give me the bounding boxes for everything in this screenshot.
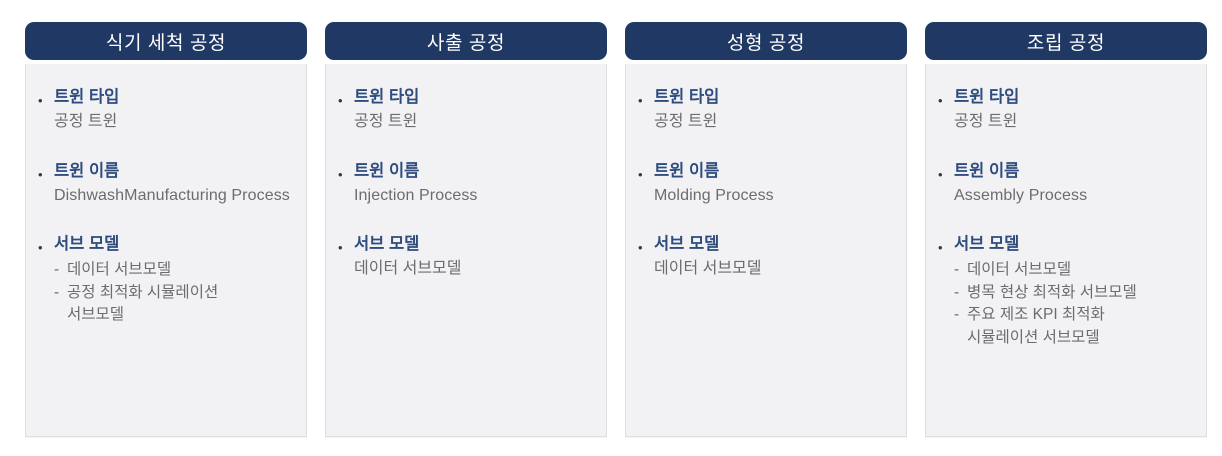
field-label-twin-type: 트윈 타입 [954,86,1196,110]
field-value-twin-type: 공정 트윈 [354,111,596,134]
bullet-dot-icon: • [938,233,954,254]
bullet-dot-icon: • [338,233,354,254]
field-value-sub-model: 데이터 서브모델 [654,258,896,281]
field-label-sub-model: 서브 모델 [954,233,1196,257]
bullet-dot-icon: • [938,86,954,107]
field-content: 트윈 타입 공정 트윈 [654,86,896,134]
process-card-molding[interactable]: 성형 공정 • 트윈 타입 공정 트윈 • 트윈 이름 Molding Proc… [625,22,907,437]
field-label-twin-type: 트윈 타입 [54,86,296,110]
field-twin-name: • 트윈 이름 Injection Process [338,160,596,208]
field-content: 트윈 타입 공정 트윈 [354,86,596,134]
field-value-twin-name: DishwashManufacturing Process [54,185,296,208]
dash-icon: - [54,282,59,304]
field-label-sub-model: 서브 모델 [54,233,296,257]
field-content: 서브 모델 데이터 서브모델 [354,233,596,281]
field-content: 트윈 타입 공정 트윈 [54,86,296,134]
sub-model-item-line1: 병목 현상 최적화 서브모델 [967,284,1137,301]
sub-model-item: - 데이터 서브모델 [54,259,296,281]
sub-model-item-line1: 주요 제조 KPI 최적화 [967,306,1105,323]
field-label-sub-model: 서브 모델 [654,233,896,257]
field-value-sub-model: 데이터 서브모델 [354,258,596,281]
bullet-dot-icon: • [38,160,54,181]
card-body-injection: • 트윈 타입 공정 트윈 • 트윈 이름 Injection Process … [325,64,607,437]
field-twin-type: • 트윈 타입 공정 트윈 [938,86,1196,134]
field-label-twin-name: 트윈 이름 [354,160,596,184]
process-card-injection[interactable]: 사출 공정 • 트윈 타입 공정 트윈 • 트윈 이름 Injection Pr… [325,22,607,437]
field-content: 트윈 이름 Assembly Process [954,160,1196,208]
sub-model-item-line2: 시뮬레이션 서브모델 [967,327,1196,349]
field-content: 서브 모델 - 데이터 서브모델 - 병목 현상 최적화 서브모델 - 주요 제 [954,233,1196,349]
field-content: 트윈 이름 Molding Process [654,160,896,208]
field-content: 서브 모델 데이터 서브모델 [654,233,896,281]
bullet-dot-icon: • [638,86,654,107]
field-twin-type: • 트윈 타입 공정 트윈 [338,86,596,134]
bullet-dot-icon: • [938,160,954,181]
field-label-twin-name: 트윈 이름 [54,160,296,184]
field-label-twin-type: 트윈 타입 [354,86,596,110]
field-sub-model: • 서브 모델 - 데이터 서브모델 - 병목 현상 최적화 서브모델 [938,233,1196,349]
card-body-assembly: • 트윈 타입 공정 트윈 • 트윈 이름 Assembly Process •… [925,64,1207,437]
sub-model-item-line1: 데이터 서브모델 [67,261,171,278]
field-content: 트윈 이름 DishwashManufacturing Process [54,160,296,208]
sub-model-list: - 데이터 서브모델 - 병목 현상 최적화 서브모델 - 주요 제조 KPI … [954,259,1196,349]
field-twin-name: • 트윈 이름 Assembly Process [938,160,1196,208]
field-label-twin-name: 트윈 이름 [654,160,896,184]
field-value-twin-name: Injection Process [354,185,596,208]
bullet-dot-icon: • [338,86,354,107]
process-card-dishwash[interactable]: 식기 세척 공정 • 트윈 타입 공정 트윈 • 트윈 이름 DishwashM… [25,22,307,437]
field-value-twin-type: 공정 트윈 [54,111,296,134]
card-title-injection: 사출 공정 [325,22,607,60]
field-content: 트윈 타입 공정 트윈 [954,86,1196,134]
sub-model-item: - 데이터 서브모델 [954,259,1196,281]
field-value-twin-name: Molding Process [654,185,896,208]
field-twin-type: • 트윈 타입 공정 트윈 [38,86,296,134]
sub-model-item-line1: 데이터 서브모델 [967,261,1071,278]
field-twin-name: • 트윈 이름 Molding Process [638,160,896,208]
field-sub-model: • 서브 모델 데이터 서브모델 [338,233,596,281]
dash-icon: - [954,304,959,326]
card-title-dishwash: 식기 세척 공정 [25,22,307,60]
field-content: 서브 모델 - 데이터 서브모델 - 공정 최적화 시뮬레이션 서브모델 [54,233,296,326]
sub-model-item: - 공정 최적화 시뮬레이션 서브모델 [54,282,296,327]
field-twin-name: • 트윈 이름 DishwashManufacturing Process [38,160,296,208]
bullet-dot-icon: • [338,160,354,181]
bullet-dot-icon: • [638,160,654,181]
process-card-assembly[interactable]: 조립 공정 • 트윈 타입 공정 트윈 • 트윈 이름 Assembly Pro… [925,22,1207,437]
card-body-molding: • 트윈 타입 공정 트윈 • 트윈 이름 Molding Process • … [625,64,907,437]
sub-model-item: - 병목 현상 최적화 서브모델 [954,282,1196,304]
dash-icon: - [954,259,959,281]
field-value-twin-type: 공정 트윈 [654,111,896,134]
field-label-twin-type: 트윈 타입 [654,86,896,110]
sub-model-item-line2: 서브모델 [67,304,296,326]
sub-model-list: - 데이터 서브모델 - 공정 최적화 시뮬레이션 서브모델 [54,259,296,326]
process-cards-board: 식기 세척 공정 • 트윈 타입 공정 트윈 • 트윈 이름 DishwashM… [0,0,1222,456]
sub-model-item: - 주요 제조 KPI 최적화 시뮬레이션 서브모델 [954,304,1196,349]
field-sub-model: • 서브 모델 데이터 서브모델 [638,233,896,281]
sub-model-item-line1: 공정 최적화 시뮬레이션 [67,284,218,301]
field-twin-type: • 트윈 타입 공정 트윈 [638,86,896,134]
field-value-twin-type: 공정 트윈 [954,111,1196,134]
card-title-molding: 성형 공정 [625,22,907,60]
field-sub-model: • 서브 모델 - 데이터 서브모델 - 공정 최적화 시뮬레이션 서브모델 [38,233,296,326]
bullet-dot-icon: • [38,233,54,254]
card-body-dishwash: • 트윈 타입 공정 트윈 • 트윈 이름 DishwashManufactur… [25,64,307,437]
field-content: 트윈 이름 Injection Process [354,160,596,208]
dash-icon: - [54,259,59,281]
card-title-assembly: 조립 공정 [925,22,1207,60]
dash-icon: - [954,282,959,304]
field-label-sub-model: 서브 모델 [354,233,596,257]
field-label-twin-name: 트윈 이름 [954,160,1196,184]
bullet-dot-icon: • [38,86,54,107]
field-value-twin-name: Assembly Process [954,185,1196,208]
bullet-dot-icon: • [638,233,654,254]
